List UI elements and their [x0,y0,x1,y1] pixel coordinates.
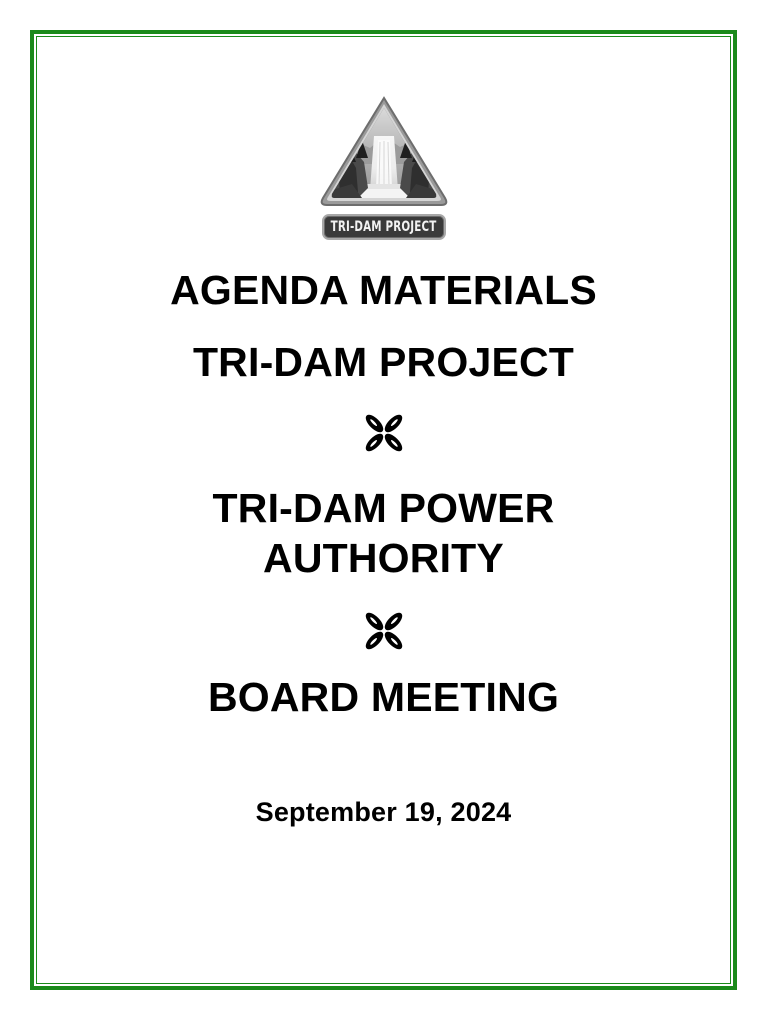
tri-dam-project-logo: TRI-DAM PROJECT [309,92,459,240]
logo-banner-text: TRI-DAM PROJECT [331,219,437,235]
logo-triangle-icon [318,92,450,210]
page-border-frame: TRI-DAM PROJECT AGENDA MATERIALS TRI-DAM… [30,30,737,990]
floral-ornament-icon [360,409,408,457]
cover-title-agenda-materials: AGENDA MATERIALS [170,266,597,314]
logo-banner: TRI-DAM PROJECT [322,214,446,240]
floral-ornament-icon-second [360,607,408,655]
cover-meeting-type: BOARD MEETING [208,673,559,721]
cover-organization-name: TRI-DAM POWER AUTHORITY [169,483,599,583]
cover-content: TRI-DAM PROJECT AGENDA MATERIALS TRI-DAM… [34,34,733,986]
cover-meeting-date: September 19, 2024 [256,797,512,828]
cover-title-tri-dam-project: TRI-DAM PROJECT [193,338,574,386]
